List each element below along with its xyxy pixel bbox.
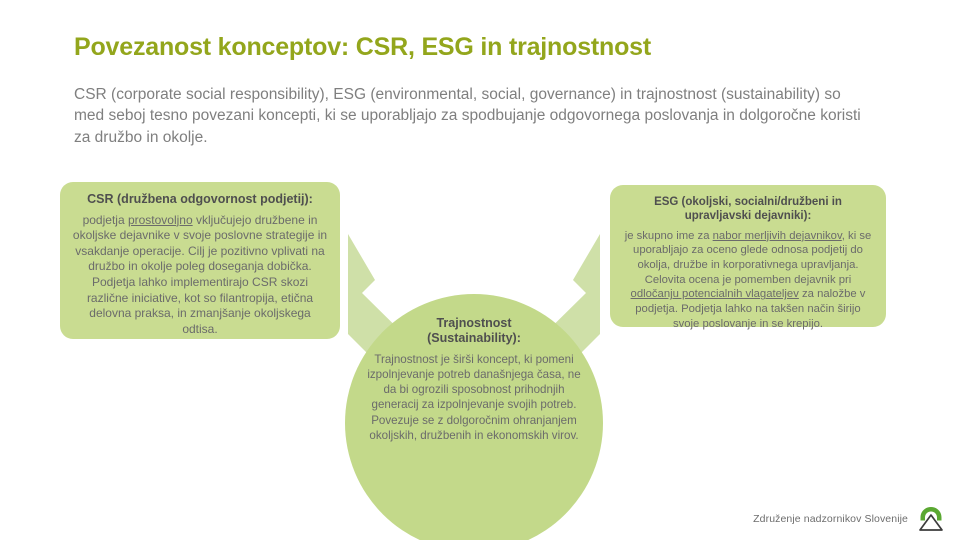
intro-paragraph: CSR (corporate social responsibility), E…: [74, 84, 864, 148]
csr-heading: CSR (družbena odgovornost podjetij):: [72, 192, 328, 208]
sustainability-heading: Trajnostnost (Sustainability):: [367, 316, 581, 347]
sustainability-heading-line1: Trajnostnost: [367, 316, 581, 331]
esg-heading: ESG (okoljski, socialni/družbeni in upra…: [622, 195, 874, 224]
csr-body-underlined: prostovoljno: [128, 213, 193, 227]
sustainability-body: Trajnostnost je širši koncept, ki pomeni…: [367, 352, 581, 444]
csr-body-after: vključujejo družbene in okoljske dejavni…: [73, 213, 327, 336]
footer-organization-name: Združenje nadzornikov Slovenije: [753, 513, 908, 525]
slide-canvas: Povezanost konceptov: CSR, ESG in trajno…: [0, 0, 960, 540]
sustainability-heading-line2: (Sustainability):: [367, 331, 581, 346]
esg-body-underlined-2: odločanju potencialnih vlagateljev: [631, 288, 799, 300]
esg-body-underlined-1: nabor merljivih dejavnikov: [713, 230, 842, 242]
concept-box-esg: ESG (okoljski, socialni/družbeni in upra…: [610, 185, 886, 327]
page-title: Povezanost konceptov: CSR, ESG in trajno…: [74, 33, 874, 62]
csr-body-before: podjetja: [83, 213, 128, 227]
esg-body-before: je skupno ime za: [625, 230, 713, 242]
concept-box-csr: CSR (družbena odgovornost podjetij): pod…: [60, 182, 340, 339]
footer: Združenje nadzornikov Slovenije: [753, 505, 944, 532]
esg-body: je skupno ime za nabor merljivih dejavni…: [622, 229, 874, 332]
arch-triangle-logo-icon: [918, 505, 944, 532]
csr-body: podjetja prostovoljno vključujejo družbe…: [72, 213, 328, 338]
concept-circle-sustainability: Trajnostnost (Sustainability): Trajnostn…: [345, 294, 603, 540]
